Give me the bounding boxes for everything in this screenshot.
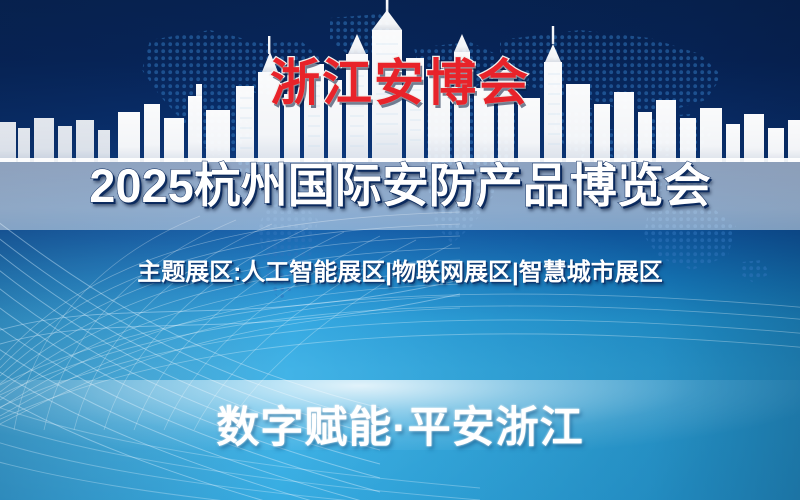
exhibition-poster: 浙江安博会 2025杭州国际安防产品博览会 主题展区:人工智能展区|物联网展区|… [0, 0, 800, 500]
poster-text-content: 浙江安博会 2025杭州国际安防产品博览会 主题展区:人工智能展区|物联网展区|… [0, 0, 800, 500]
brand-title: 浙江安博会 [0, 58, 800, 108]
main-headline: 2025杭州国际安防产品博览会 [0, 160, 800, 212]
theme-zones-line: 主题展区:人工智能展区|物联网展区|智慧城市展区 [0, 259, 800, 288]
slogan: 数字赋能·平安浙江 [0, 405, 800, 452]
